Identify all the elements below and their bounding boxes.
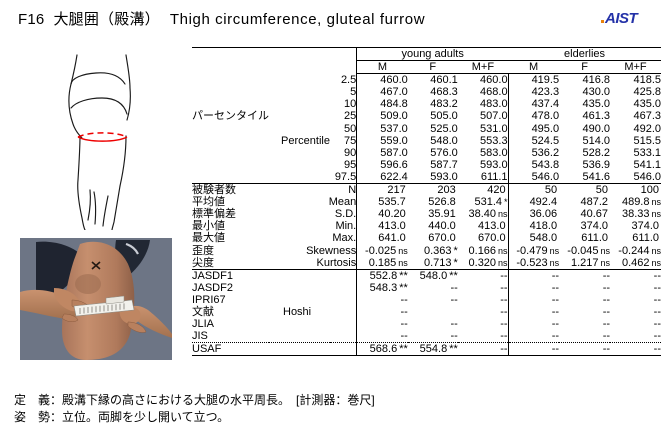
- data-value: 374.0: [580, 220, 608, 232]
- data-value: 440.0: [428, 220, 456, 232]
- stat-label-english: Mean: [269, 196, 357, 208]
- data-cell: --: [458, 343, 508, 356]
- data-value: 487.2: [580, 196, 608, 208]
- data-cell: --: [357, 306, 408, 318]
- data-cell: 524.5: [508, 135, 559, 147]
- spacer-cell: [269, 74, 330, 87]
- data-cell: --: [357, 318, 408, 330]
- data-cell: -0.045ns: [559, 245, 610, 257]
- significance-marker: **: [399, 270, 408, 282]
- data-cell: --: [458, 330, 508, 343]
- data-cell: 460.0: [357, 74, 408, 87]
- data-cell: --: [610, 330, 661, 343]
- data-cell: --: [508, 318, 559, 330]
- data-cell: 467.0: [357, 86, 408, 98]
- data-cell: 583.0: [458, 147, 508, 159]
- spacer-cell: [192, 61, 269, 74]
- data-cell: --: [610, 282, 661, 294]
- data-cell: 423.3: [508, 86, 559, 98]
- data-value: 568.6: [370, 343, 398, 355]
- data-value: 670.0: [428, 232, 456, 244]
- data-cell: --: [559, 282, 610, 294]
- data-cell: --: [508, 269, 559, 282]
- data-cell: 528.2: [559, 147, 610, 159]
- spacer-cell: [192, 159, 269, 171]
- table-row: 97.5 622.4 593.0 611.1 546.0 541.6 546.0: [192, 171, 661, 184]
- percentile-value: 90: [330, 147, 357, 159]
- data-cell: 50: [508, 184, 559, 197]
- data-cell: 622.4: [357, 171, 408, 184]
- data-cell: 413.0: [357, 220, 408, 232]
- data-cell: 554.8**: [408, 343, 458, 356]
- data-cell: -0.025ns: [357, 245, 408, 257]
- significance-marker: *: [453, 245, 457, 257]
- data-value: 0.713: [424, 257, 452, 269]
- table-row: JLIA -- -- -- -- -- --: [192, 318, 661, 330]
- data-cell: 100: [610, 184, 661, 197]
- data-value: 0.320: [469, 257, 497, 269]
- data-value: 38.33: [622, 208, 650, 220]
- data-value: -0.523: [516, 257, 547, 269]
- data-cell: --: [458, 282, 508, 294]
- reference-name: Hoshi: [269, 306, 357, 318]
- data-cell: 440.0: [408, 220, 458, 232]
- data-cell: --: [559, 269, 610, 282]
- column-header-young-m: M: [357, 61, 408, 74]
- data-value: 217: [387, 184, 405, 196]
- table-row: 最大値 Max. 641.0 670.0 670.0 548.0 611.0 6…: [192, 232, 661, 244]
- significance-marker: **: [399, 282, 408, 294]
- data-cell: --: [508, 343, 559, 356]
- data-cell: 489.8ns: [610, 196, 661, 208]
- data-value: 50: [596, 184, 608, 196]
- data-value: 489.8: [622, 196, 650, 208]
- data-cell: --: [458, 269, 508, 282]
- data-value: 36.06: [530, 208, 558, 220]
- spacer-cell: [269, 147, 330, 159]
- stat-label-japanese: 最大値: [192, 232, 269, 244]
- percentile-value: 50: [330, 123, 357, 135]
- spacer-cell: [269, 171, 330, 184]
- data-value: 413.0: [478, 220, 506, 232]
- footnote-posture: 姿 勢：立位。両脚を少し開いて立つ。: [14, 409, 375, 426]
- data-cell: --: [458, 294, 508, 306]
- significance-marker: **: [449, 270, 458, 282]
- spacer-cell: [269, 123, 330, 135]
- stat-label-english: Min.: [269, 220, 357, 232]
- data-cell: 461.3: [559, 110, 610, 122]
- significance-marker: ns: [398, 258, 408, 268]
- data-cell: 509.0: [357, 110, 408, 122]
- data-value: 535.7: [378, 196, 406, 208]
- spacer-cell: [192, 171, 269, 184]
- data-cell: [408, 306, 458, 318]
- data-cell: 483.2: [408, 98, 458, 110]
- data-cell: --: [559, 318, 610, 330]
- data-value: 35.91: [428, 208, 456, 220]
- data-cell: 507.0: [458, 110, 508, 122]
- table-row: 最小値 Min. 413.0 440.0 413.0 418.0 374.0 3…: [192, 220, 661, 232]
- data-cell: 611.0: [559, 232, 610, 244]
- data-value: 611.0: [581, 232, 608, 244]
- data-cell: 568.6**: [357, 343, 408, 356]
- data-value: 0.363: [424, 245, 452, 257]
- data-cell: 593.0: [458, 159, 508, 171]
- data-cell: --: [610, 318, 661, 330]
- table-row: 尖度 Kurtosis 0.185ns 0.713* 0.320ns -0.52…: [192, 257, 661, 270]
- data-value: 38.40: [469, 208, 497, 220]
- data-cell: 596.6: [357, 159, 408, 171]
- data-cell: 1.217ns: [559, 257, 610, 270]
- data-cell: --: [610, 306, 661, 318]
- data-cell: 492.0: [610, 123, 661, 135]
- spacer-cell: [269, 110, 330, 122]
- column-header-elderly-m: M: [508, 61, 559, 74]
- data-value: -0.045: [567, 245, 598, 257]
- data-value: 0.185: [369, 257, 397, 269]
- data-cell: 543.8: [508, 159, 559, 171]
- data-cell: 468.0: [458, 86, 508, 98]
- stat-label-english: Kurtosis: [269, 257, 357, 270]
- stat-label-japanese: 歪度: [192, 245, 269, 257]
- data-cell: --: [559, 294, 610, 306]
- stat-label-english: N: [269, 184, 357, 197]
- significance-marker: ns: [550, 246, 560, 256]
- data-cell: 467.3: [610, 110, 661, 122]
- data-cell: -0.523ns: [508, 257, 559, 270]
- percentile-value: 10: [330, 98, 357, 110]
- data-cell: 490.0: [559, 123, 610, 135]
- data-cell: 416.8: [559, 74, 610, 87]
- data-cell: 478.0: [508, 110, 559, 122]
- data-cell: 525.0: [408, 123, 458, 135]
- data-cell: --: [408, 330, 458, 343]
- significance-marker: *: [453, 257, 457, 269]
- data-cell: 40.67: [559, 208, 610, 220]
- data-cell: 546.0: [508, 171, 559, 184]
- data-cell: 670.0: [458, 232, 508, 244]
- significance-marker: ns: [651, 209, 661, 219]
- page-header: F16大腿囲（殿溝）Thigh circumference, gluteal f…: [0, 0, 663, 36]
- group-header-young-adults: young adults: [357, 48, 508, 61]
- percentile-label-japanese: パーセンタイル: [192, 110, 269, 122]
- data-value: 548.0: [530, 232, 558, 244]
- data-cell: 468.3: [408, 86, 458, 98]
- table-row: 10 484.8 483.2 483.0 437.4 435.0 435.0: [192, 98, 661, 110]
- data-cell: 495.0: [508, 123, 559, 135]
- stat-label-english: Max.: [269, 232, 357, 244]
- data-cell: 425.8: [610, 86, 661, 98]
- data-cell: 36.06: [508, 208, 559, 220]
- data-cell: 40.20: [357, 208, 408, 220]
- data-cell: 559.0: [357, 135, 408, 147]
- data-cell: 611.1: [458, 171, 508, 184]
- stat-label-japanese: 平均値: [192, 196, 269, 208]
- data-cell: --: [610, 269, 661, 282]
- reference-name: IPRI67: [192, 294, 357, 306]
- data-cell: 593.0: [408, 171, 458, 184]
- data-cell: --: [357, 330, 408, 343]
- data-cell: 641.0: [357, 232, 408, 244]
- table-row: IPRI67 -- -- -- -- -- --: [192, 294, 661, 306]
- data-cell: 587.7: [408, 159, 458, 171]
- data-cell: --: [408, 282, 458, 294]
- significance-marker: **: [449, 343, 458, 355]
- data-cell: 533.1: [610, 147, 661, 159]
- significance-marker: ns: [498, 246, 508, 256]
- data-value: -0.479: [516, 245, 547, 257]
- spacer-cell: [192, 98, 269, 110]
- table-row: Percentile 75 559.0 548.0 553.3 524.5 51…: [192, 135, 661, 147]
- data-cell: 413.0: [458, 220, 508, 232]
- table-row: 歪度 Skewness -0.025ns 0.363* 0.166ns -0.4…: [192, 245, 661, 257]
- data-cell: 587.0: [357, 147, 408, 159]
- data-value: 670.0: [478, 232, 506, 244]
- data-cell: 50: [559, 184, 610, 197]
- data-cell: 552.8**: [357, 269, 408, 282]
- data-cell: --: [610, 343, 661, 356]
- data-value: 611.0: [632, 232, 659, 244]
- data-cell: 537.0: [357, 123, 408, 135]
- data-cell: 526.8: [408, 196, 458, 208]
- data-cell: 548.0: [508, 232, 559, 244]
- percentile-value: 25: [330, 110, 357, 122]
- data-cell: 217: [357, 184, 408, 197]
- data-cell: 418.0: [508, 220, 559, 232]
- data-cell: 460.0: [458, 74, 508, 87]
- table-row: JASDF2 548.3** -- -- -- -- --: [192, 282, 661, 294]
- data-cell: 548.3**: [357, 282, 408, 294]
- table-row: 90 587.0 576.0 583.0 536.2 528.2 533.1: [192, 147, 661, 159]
- column-header-young-mf: M+F: [458, 61, 508, 74]
- data-cell: 38.33ns: [610, 208, 661, 220]
- stat-label-japanese: 最小値: [192, 220, 269, 232]
- data-cell: 435.0: [610, 98, 661, 110]
- page-title-english: Thigh circumference, gluteal furrow: [170, 11, 425, 28]
- data-cell: 483.0: [458, 98, 508, 110]
- percentile-label-english: Percentile: [269, 135, 330, 147]
- significance-marker: ns: [398, 246, 408, 256]
- reference-name: JLIA: [192, 318, 357, 330]
- significance-marker: ns: [498, 258, 508, 268]
- table-row: 50 537.0 525.0 531.0 495.0 490.0 492.0: [192, 123, 661, 135]
- data-cell: 0.363*: [408, 245, 458, 257]
- data-value: 40.67: [580, 208, 608, 220]
- data-cell: --: [357, 294, 408, 306]
- data-value: -0.025: [365, 245, 396, 257]
- column-header-elderly-mf: M+F: [610, 61, 661, 74]
- data-value: 554.8: [420, 343, 448, 355]
- significance-marker: ns: [651, 246, 661, 256]
- data-value: 418.0: [530, 220, 558, 232]
- percentile-value: 97.5: [330, 171, 357, 184]
- significance-marker: ns: [651, 197, 661, 207]
- spacer-cell: [269, 159, 330, 171]
- stat-label-english: Skewness: [269, 245, 357, 257]
- significance-marker: ns: [498, 209, 508, 219]
- data-value: 0.462: [622, 257, 650, 269]
- column-header-young-f: F: [408, 61, 458, 74]
- data-cell: --: [508, 306, 559, 318]
- percentile-value: 5: [330, 86, 357, 98]
- percentile-value: 75: [330, 135, 357, 147]
- footnotes: 定 義：殿溝下縁の高さにおける大腿の水平周長。 [計測器：巻尺] 姿 勢：立位。…: [14, 392, 375, 426]
- data-value: 526.8: [428, 196, 456, 208]
- table-column-header-row: M F M+F M F M+F: [192, 61, 661, 74]
- significance-marker: *: [504, 197, 508, 207]
- spacer-cell: [269, 48, 330, 61]
- data-cell: -0.244ns: [610, 245, 661, 257]
- column-header-elderly-f: F: [559, 61, 610, 74]
- spacer-cell: [269, 98, 330, 110]
- data-cell: 514.0: [559, 135, 610, 147]
- data-value: 420: [487, 184, 505, 196]
- table-row: 95 596.6 587.7 593.0 543.8 536.9 541.1: [192, 159, 661, 171]
- percentile-value: 95: [330, 159, 357, 171]
- data-cell: --: [458, 306, 508, 318]
- thigh-gluteal-furrow-diagram: [20, 38, 192, 230]
- table-row: JASDF1 552.8** 548.0** -- -- -- --: [192, 269, 661, 282]
- reference-name: JASDF1: [192, 269, 357, 282]
- spacer-cell: [192, 147, 269, 159]
- data-cell: 38.40ns: [458, 208, 508, 220]
- data-cell: 435.0: [559, 98, 610, 110]
- spacer-cell: [330, 61, 357, 74]
- anthropometric-data-table: young adults elderlies M F M+F M F M+F 2…: [192, 47, 661, 356]
- data-cell: 487.2: [559, 196, 610, 208]
- data-value: 203: [437, 184, 455, 196]
- data-cell: 420: [458, 184, 508, 197]
- reference-name: USAF: [192, 343, 357, 356]
- data-value: 531.4: [475, 196, 503, 208]
- footnote-definition: 定 義：殿溝下縁の高さにおける大腿の水平周長。 [計測器：巻尺]: [14, 392, 375, 409]
- data-cell: 548.0**: [408, 269, 458, 282]
- data-value: -0.244: [618, 245, 649, 257]
- page-title-japanese: 大腿囲（殿溝）: [53, 11, 159, 28]
- spacer-cell: [330, 48, 357, 61]
- spacer-cell: [192, 48, 269, 61]
- data-cell: 670.0: [408, 232, 458, 244]
- reference-name: JASDF2: [192, 282, 357, 294]
- page-title-code: F16: [18, 11, 44, 28]
- data-cell: 576.0: [408, 147, 458, 159]
- spacer-cell: [269, 61, 330, 74]
- data-cell: 553.3: [458, 135, 508, 147]
- stat-label-english: S.D.: [269, 208, 357, 220]
- data-value: 548.3: [370, 282, 398, 294]
- group-header-elderlies: elderlies: [508, 48, 661, 61]
- table-row: 5 467.0 468.3 468.0 423.3 430.0 425.8: [192, 86, 661, 98]
- spacer-cell: [192, 86, 269, 98]
- data-cell: 531.4*: [458, 196, 508, 208]
- data-cell: 531.0: [458, 123, 508, 135]
- data-cell: 460.1: [408, 74, 458, 87]
- significance-marker: ns: [601, 258, 611, 268]
- data-cell: 0.713*: [408, 257, 458, 270]
- spacer-cell: [192, 74, 269, 87]
- data-cell: 541.6: [559, 171, 610, 184]
- data-cell: 374.0: [559, 220, 610, 232]
- percentile-value: 2.5: [330, 74, 357, 87]
- data-cell: --: [559, 343, 610, 356]
- aist-logo: AIST: [601, 10, 637, 27]
- spacer-cell: [192, 123, 269, 135]
- data-cell: --: [508, 294, 559, 306]
- spacer-cell: [269, 86, 330, 98]
- data-cell: -0.479ns: [508, 245, 559, 257]
- data-value: 374.0: [631, 220, 659, 232]
- data-cell: 515.5: [610, 135, 661, 147]
- aist-logo-text: AIST: [605, 10, 637, 27]
- data-cell: 203: [408, 184, 458, 197]
- reference-name: JIS: [192, 330, 357, 343]
- data-cell: 0.166ns: [458, 245, 508, 257]
- data-cell: 419.5: [508, 74, 559, 87]
- data-cell: --: [458, 318, 508, 330]
- data-cell: 535.7: [357, 196, 408, 208]
- data-cell: 492.4: [508, 196, 559, 208]
- stat-label-japanese: 被験者数: [192, 184, 269, 197]
- data-cell: 0.185ns: [357, 257, 408, 270]
- table-row: 2.5 460.0 460.1 460.0 419.5 416.8 418.5: [192, 74, 661, 87]
- data-cell: --: [559, 330, 610, 343]
- table-row: JIS -- -- -- -- -- --: [192, 330, 661, 343]
- data-value: 552.8: [370, 270, 398, 282]
- data-value: 40.20: [378, 208, 406, 220]
- data-cell: --: [508, 282, 559, 294]
- data-cell: 374.0: [610, 220, 661, 232]
- significance-marker: **: [399, 343, 408, 355]
- table-row: 文献 Hoshi -- -- -- -- --: [192, 306, 661, 318]
- data-cell: 536.2: [508, 147, 559, 159]
- page-title: F16大腿囲（殿溝）Thigh circumference, gluteal f…: [18, 8, 425, 29]
- thigh-circumference-measurement-photo: [20, 238, 172, 360]
- data-value: 641.0: [378, 232, 406, 244]
- significance-marker: ns: [550, 258, 560, 268]
- table-row: 被験者数 N 217 203 420 50 50 100: [192, 184, 661, 197]
- data-value: 50: [545, 184, 557, 196]
- stat-label-japanese: 尖度: [192, 257, 269, 270]
- stat-label-japanese: 標準偏差: [192, 208, 269, 220]
- data-cell: 505.0: [408, 110, 458, 122]
- table-group-header-row: young adults elderlies: [192, 48, 661, 61]
- data-cell: --: [508, 330, 559, 343]
- table-row: パーセンタイル 25 509.0 505.0 507.0 478.0 461.3…: [192, 110, 661, 122]
- data-cell: 548.0: [408, 135, 458, 147]
- data-cell: --: [408, 318, 458, 330]
- table-row: USAF 568.6** 554.8** -- -- -- --: [192, 343, 661, 356]
- data-value: 0.166: [469, 245, 497, 257]
- data-cell: --: [559, 306, 610, 318]
- data-value: 413.0: [378, 220, 406, 232]
- data-cell: 0.320ns: [458, 257, 508, 270]
- table-row: 平均値 Mean 535.7 526.8 531.4* 492.4 487.2 …: [192, 196, 661, 208]
- data-cell: 546.0: [610, 171, 661, 184]
- data-cell: 484.8: [357, 98, 408, 110]
- data-cell: 611.0: [610, 232, 661, 244]
- data-value: 1.217: [571, 257, 599, 269]
- spacer-cell: [192, 135, 269, 147]
- data-value: 548.0: [420, 270, 448, 282]
- data-cell: 35.91: [408, 208, 458, 220]
- data-value: 100: [641, 184, 659, 196]
- data-cell: --: [408, 294, 458, 306]
- data-cell: 418.5: [610, 74, 661, 87]
- significance-marker: ns: [601, 246, 611, 256]
- data-cell: 437.4: [508, 98, 559, 110]
- data-value: 492.4: [530, 196, 558, 208]
- data-cell: 0.462ns: [610, 257, 661, 270]
